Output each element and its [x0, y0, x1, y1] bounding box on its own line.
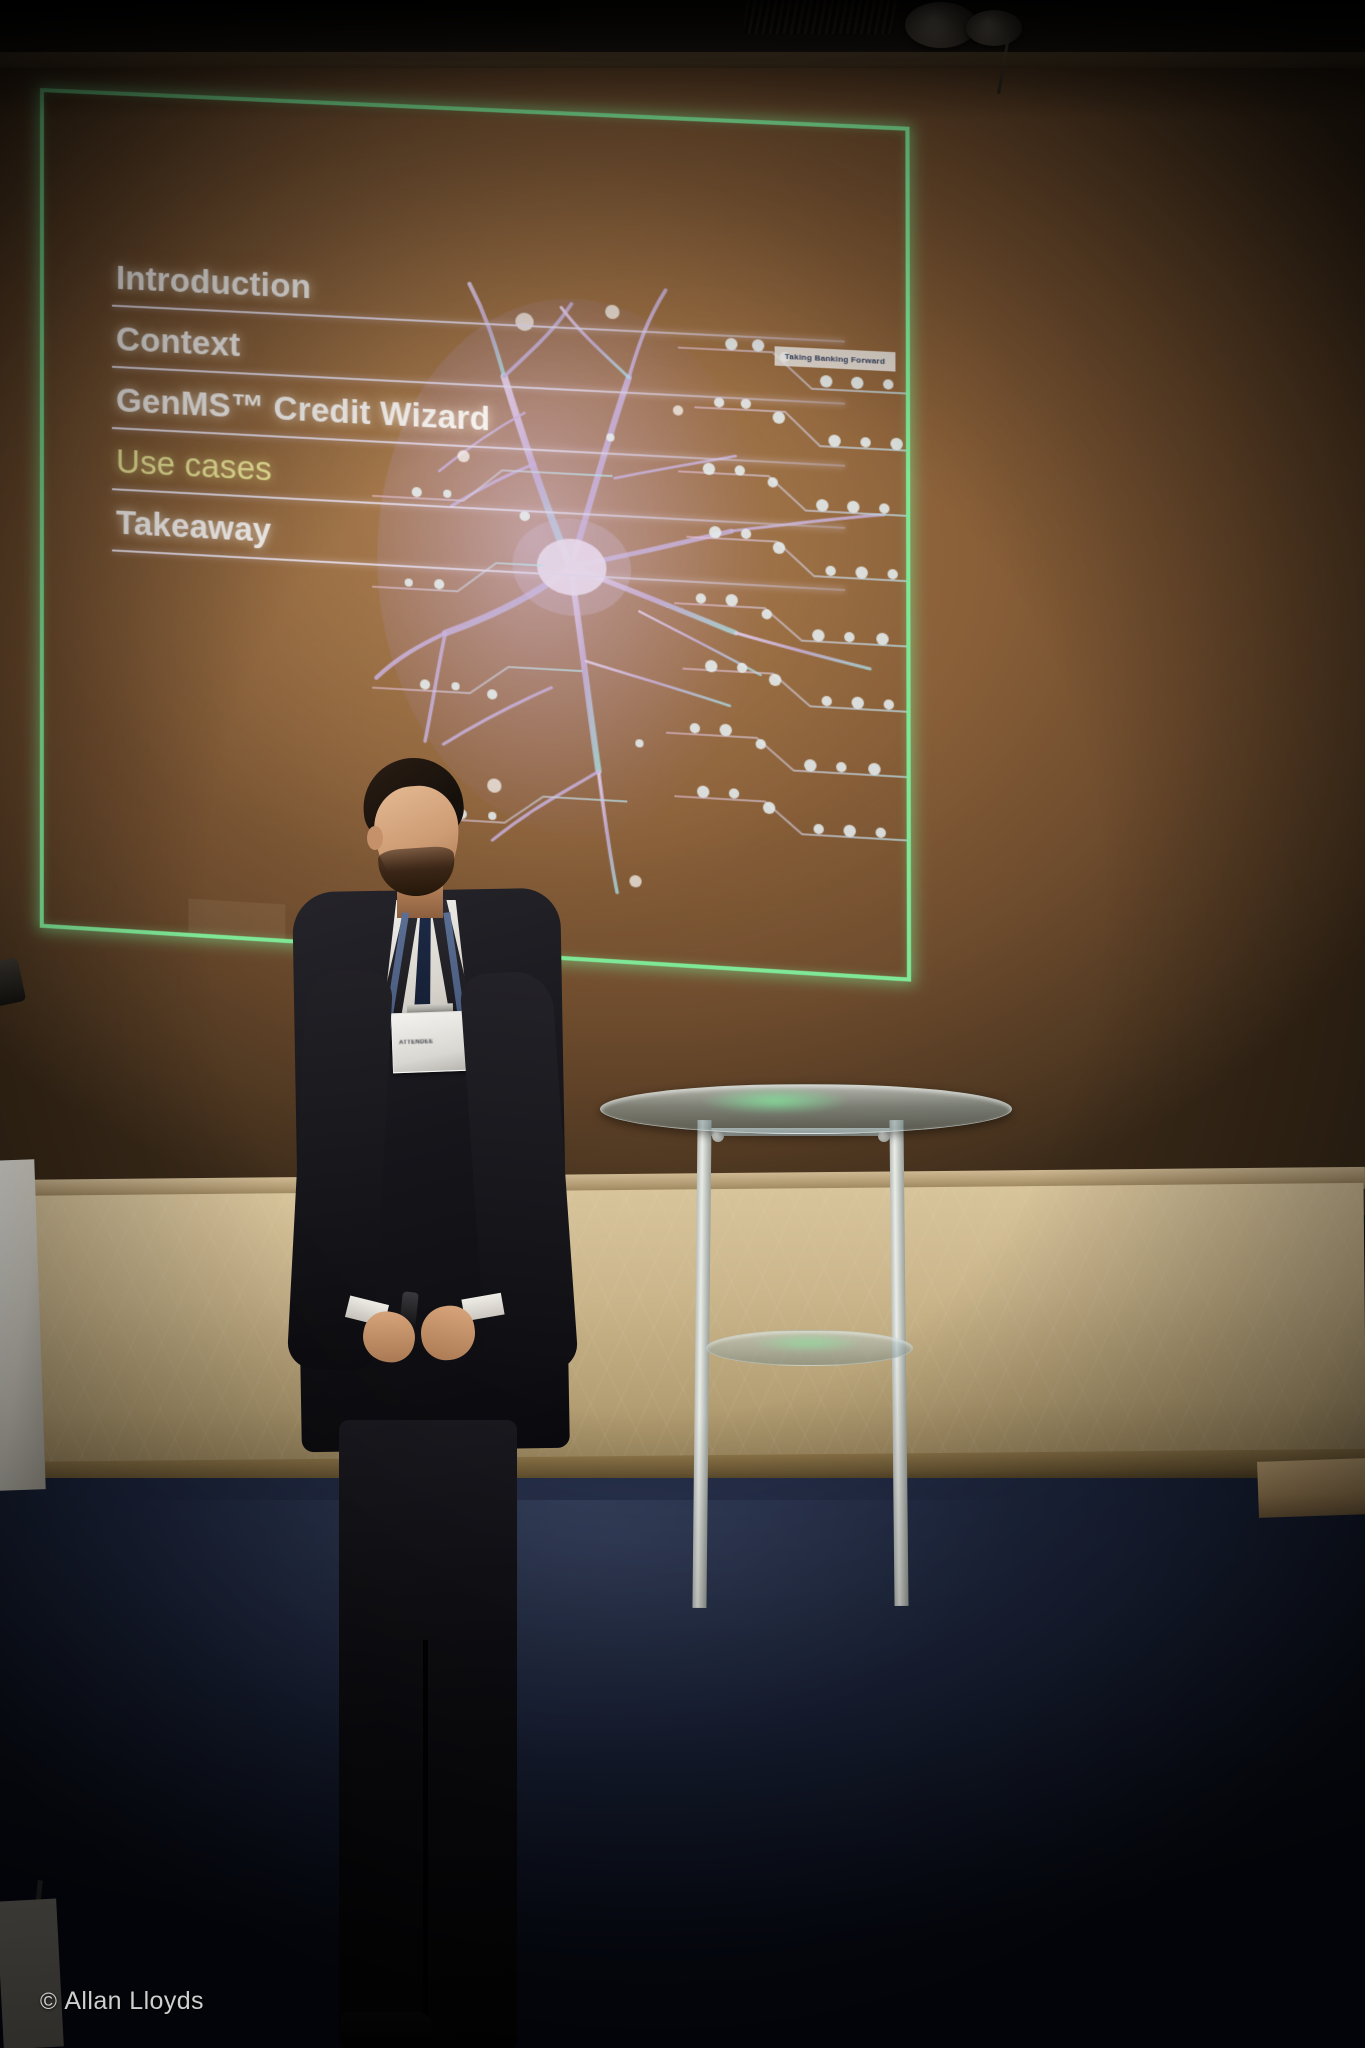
wall-cornice	[0, 52, 1365, 68]
trouser-leg-gap	[423, 1640, 428, 2040]
wainscot-damask-wall	[0, 1183, 1365, 1496]
photo-scene: Introduction Context GenMS™ Credit Wizar…	[0, 0, 1365, 2048]
ceiling-vent-icon	[743, 0, 897, 34]
wooden-step	[1257, 1458, 1365, 1518]
ceiling-panel	[1210, 0, 1365, 58]
suit-trousers	[339, 1420, 517, 2048]
copyright-icon: ©	[40, 1988, 57, 2014]
table-shelf-reflection	[752, 1334, 864, 1352]
shoe	[341, 2012, 433, 2046]
copyright-text: Allan Lloyds	[64, 1987, 204, 2015]
carpet-floor	[0, 1478, 1365, 2048]
table-top-reflection	[700, 1088, 850, 1114]
ceiling-spotlight-icon	[966, 10, 1022, 46]
name-badge-text: ATTENDEE	[399, 1038, 463, 1046]
ceiling-panel	[560, 0, 771, 58]
name-badge: ATTENDEE	[391, 1011, 471, 1074]
copyright-watermark: ©Allan Lloyds	[40, 1987, 204, 2016]
left-floor-panel	[0, 1899, 64, 2048]
presenter-figure: ATTENDEE	[255, 740, 585, 2048]
ear	[367, 826, 383, 850]
agenda-list: Introduction Context GenMS™ Credit Wizar…	[112, 260, 845, 606]
